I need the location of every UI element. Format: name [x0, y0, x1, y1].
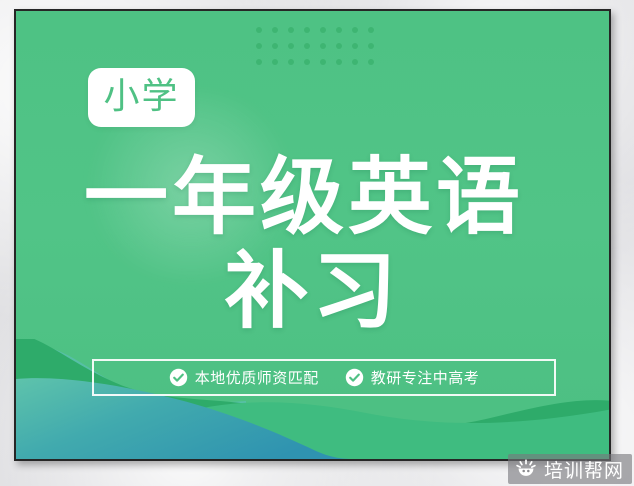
- grid-dot: [336, 27, 342, 33]
- poster-title-line-2: 补习: [224, 249, 400, 333]
- grid-dot: [288, 59, 294, 65]
- grid-dot: [256, 59, 262, 65]
- sun-face-icon: [514, 457, 538, 481]
- grid-dot: [304, 43, 310, 49]
- grid-dot: [368, 43, 374, 49]
- grid-dot: [272, 27, 278, 33]
- grid-dot: [320, 59, 326, 65]
- grid-dot: [352, 43, 358, 49]
- feature-item-0: 本地优质师资匹配: [169, 367, 319, 388]
- grid-dot: [304, 59, 310, 65]
- check-circle-icon: [345, 368, 364, 387]
- feature-bar: 本地优质师资匹配 教研专注中高考: [92, 359, 556, 396]
- feature-label-0: 本地优质师资匹配: [195, 367, 319, 388]
- grid-dot: [272, 59, 278, 65]
- grid-dot: [288, 27, 294, 33]
- grid-dot: [320, 27, 326, 33]
- site-watermark-label: 培训帮网: [544, 456, 624, 483]
- grid-dot: [336, 59, 342, 65]
- grid-dot: [336, 43, 342, 49]
- grade-level-badge: 小学: [88, 68, 195, 127]
- grid-dot: [256, 43, 262, 49]
- grid-dot: [272, 43, 278, 49]
- grid-dot: [304, 27, 310, 33]
- grid-dot: [368, 59, 374, 65]
- grid-dot: [288, 43, 294, 49]
- poster-title-line-1: 一年级英语: [84, 155, 524, 239]
- grid-dot: [352, 59, 358, 65]
- grid-dot: [352, 27, 358, 33]
- grid-dot: [368, 27, 374, 33]
- dot-grid-decoration: [256, 27, 384, 75]
- grid-dot: [256, 27, 262, 33]
- grade-level-badge-label: 小学: [103, 79, 179, 117]
- feature-item-1: 教研专注中高考: [345, 367, 480, 388]
- grid-dot: [320, 43, 326, 49]
- feature-label-1: 教研专注中高考: [371, 367, 480, 388]
- check-circle-icon: [169, 368, 188, 387]
- promo-poster-card: 小学 一年级英语 补习 本地优质师资匹配 教研专注中高考: [14, 9, 611, 461]
- site-watermark: 培训帮网: [508, 454, 632, 484]
